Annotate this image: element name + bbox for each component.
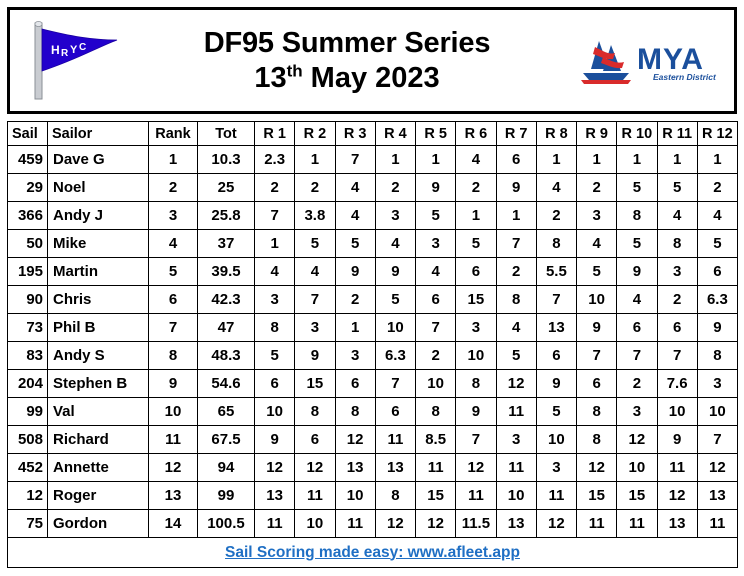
cell-race-12: 10 — [697, 398, 737, 426]
cell-sail: 83 — [8, 342, 48, 370]
cell-race-10: 15 — [617, 482, 657, 510]
cell-race-4: 13 — [375, 454, 415, 482]
cell-race-8: 2 — [536, 202, 576, 230]
cell-total: 42.3 — [198, 286, 255, 314]
cell-race-7: 9 — [496, 174, 536, 202]
cell-sailor: Dave G — [48, 146, 149, 174]
cell-race-8: 1 — [536, 146, 576, 174]
afleet-link[interactable]: Sail Scoring made easy: www.afleet.app — [225, 544, 520, 561]
cell-race-12: 8 — [697, 342, 737, 370]
cell-race-8: 12 — [536, 510, 576, 538]
cell-race-7: 2 — [496, 258, 536, 286]
cell-race-10: 1 — [617, 146, 657, 174]
cell-race-7: 8 — [496, 286, 536, 314]
cell-race-12: 12 — [697, 454, 737, 482]
cell-sailor: Andy J — [48, 202, 149, 230]
cell-race-1: 7 — [255, 202, 295, 230]
cell-race-3: 13 — [335, 454, 375, 482]
cell-race-4: 7 — [375, 370, 415, 398]
table-row: 508Richard1167.59612118.5731081297 — [8, 426, 738, 454]
cell-race-9: 3 — [577, 202, 617, 230]
cell-race-10: 6 — [617, 314, 657, 342]
table-footer: Sail Scoring made easy: www.afleet.app — [8, 538, 738, 568]
cell-race-5: 11 — [416, 454, 456, 482]
event-title: DF95 Summer Series — [130, 26, 564, 60]
cell-race-9: 9 — [577, 314, 617, 342]
cell-race-9: 6 — [577, 370, 617, 398]
results-table-container: Sail Sailor Rank Tot R 1 R 2 R 3 R 4 R 5… — [7, 121, 737, 568]
cell-race-8: 3 — [536, 454, 576, 482]
cell-race-4: 3 — [375, 202, 415, 230]
svg-text:Eastern District: Eastern District — [653, 72, 717, 82]
cell-race-6: 8 — [456, 370, 496, 398]
cell-race-1: 2 — [255, 174, 295, 202]
cell-race-1: 10 — [255, 398, 295, 426]
cell-race-6: 4 — [456, 146, 496, 174]
cell-race-11: 10 — [657, 398, 697, 426]
cell-race-8: 9 — [536, 370, 576, 398]
cell-race-10: 8 — [617, 202, 657, 230]
cell-race-2: 6 — [295, 426, 335, 454]
cell-race-10: 12 — [617, 426, 657, 454]
cell-race-7: 11 — [496, 454, 536, 482]
cell-sail: 75 — [8, 510, 48, 538]
cell-race-9: 2 — [577, 174, 617, 202]
results-table: Sail Sailor Rank Tot R 1 R 2 R 3 R 4 R 5… — [7, 121, 738, 568]
cell-race-10: 7 — [617, 342, 657, 370]
cell-race-3: 7 — [335, 146, 375, 174]
svg-text:C: C — [79, 42, 86, 53]
hryc-burgee-logo: H R Y C — [10, 10, 130, 111]
cell-race-11: 8 — [657, 230, 697, 258]
svg-text:R: R — [61, 48, 69, 59]
cell-race-6: 15 — [456, 286, 496, 314]
cell-race-2: 12 — [295, 454, 335, 482]
cell-race-5: 12 — [416, 510, 456, 538]
cell-race-11: 4 — [657, 202, 697, 230]
svg-text:H: H — [51, 43, 60, 57]
cell-race-9: 4 — [577, 230, 617, 258]
cell-race-6: 12 — [456, 454, 496, 482]
header-sail[interactable]: Sail — [8, 122, 48, 146]
cell-race-12: 4 — [697, 202, 737, 230]
cell-sail: 99 — [8, 398, 48, 426]
header-race-9[interactable]: R 9 — [577, 122, 617, 146]
cell-race-2: 10 — [295, 510, 335, 538]
cell-rank: 12 — [149, 454, 198, 482]
cell-race-1: 5 — [255, 342, 295, 370]
cell-sailor: Richard — [48, 426, 149, 454]
cell-race-11: 6 — [657, 314, 697, 342]
cell-race-11: 1 — [657, 146, 697, 174]
cell-race-7: 3 — [496, 426, 536, 454]
cell-race-10: 10 — [617, 454, 657, 482]
cell-race-2: 5 — [295, 230, 335, 258]
cell-race-4: 6 — [375, 398, 415, 426]
table-row: 90Chris642.337256158710426.3 — [8, 286, 738, 314]
cell-sail: 195 — [8, 258, 48, 286]
cell-race-1: 8 — [255, 314, 295, 342]
cell-sailor: Annette — [48, 454, 149, 482]
cell-sailor: Gordon — [48, 510, 149, 538]
cell-race-1: 4 — [255, 258, 295, 286]
cell-race-5: 9 — [416, 174, 456, 202]
footer-cell: Sail Scoring made easy: www.afleet.app — [8, 538, 738, 568]
header-tot[interactable]: Tot — [198, 122, 255, 146]
cell-race-3: 4 — [335, 174, 375, 202]
cell-race-4: 12 — [375, 510, 415, 538]
cell-race-5: 6 — [416, 286, 456, 314]
cell-sail: 50 — [8, 230, 48, 258]
cell-race-6: 9 — [456, 398, 496, 426]
cell-race-1: 13 — [255, 482, 295, 510]
cell-race-4: 5 — [375, 286, 415, 314]
table-row: 452Annette129412121313111211312101112 — [8, 454, 738, 482]
cell-total: 99 — [198, 482, 255, 510]
cell-race-12: 11 — [697, 510, 737, 538]
cell-rank: 1 — [149, 146, 198, 174]
cell-sail: 73 — [8, 314, 48, 342]
cell-total: 47 — [198, 314, 255, 342]
cell-race-7: 6 — [496, 146, 536, 174]
table-row: 459Dave G110.32.317114611111 — [8, 146, 738, 174]
table-row: 50Mike437155435784585 — [8, 230, 738, 258]
table-header: Sail Sailor Rank Tot R 1 R 2 R 3 R 4 R 5… — [8, 122, 738, 146]
cell-race-4: 8 — [375, 482, 415, 510]
cell-total: 25.8 — [198, 202, 255, 230]
cell-race-11: 7 — [657, 342, 697, 370]
cell-race-3: 6 — [335, 370, 375, 398]
cell-sailor: Stephen B — [48, 370, 149, 398]
event-date: 13th May 2023 — [130, 61, 564, 95]
cell-race-5: 5 — [416, 202, 456, 230]
cell-race-4: 2 — [375, 174, 415, 202]
cell-race-12: 9 — [697, 314, 737, 342]
cell-race-1: 3 — [255, 286, 295, 314]
cell-race-5: 1 — [416, 146, 456, 174]
cell-race-3: 1 — [335, 314, 375, 342]
header-race-10[interactable]: R 10 — [617, 122, 657, 146]
header-race-7[interactable]: R 7 — [496, 122, 536, 146]
cell-sailor: Roger — [48, 482, 149, 510]
cell-race-7: 4 — [496, 314, 536, 342]
cell-race-2: 4 — [295, 258, 335, 286]
cell-race-3: 11 — [335, 510, 375, 538]
cell-race-4: 11 — [375, 426, 415, 454]
cell-race-1: 9 — [255, 426, 295, 454]
cell-race-8: 7 — [536, 286, 576, 314]
cell-race-3: 12 — [335, 426, 375, 454]
cell-race-2: 3 — [295, 314, 335, 342]
scoreboard-page: H R Y C DF95 Summer Series 13th May 2023… — [0, 0, 744, 576]
cell-race-6: 6 — [456, 258, 496, 286]
header-race-12[interactable]: R 12 — [697, 122, 737, 146]
cell-race-9: 11 — [577, 510, 617, 538]
cell-race-6: 3 — [456, 314, 496, 342]
cell-race-10: 9 — [617, 258, 657, 286]
cell-race-1: 11 — [255, 510, 295, 538]
header-race-6[interactable]: R 6 — [456, 122, 496, 146]
cell-sail: 452 — [8, 454, 48, 482]
cell-race-7: 12 — [496, 370, 536, 398]
cell-sail: 204 — [8, 370, 48, 398]
cell-race-12: 6.3 — [697, 286, 737, 314]
mya-eastern-district-logo: MYA Eastern District — [564, 10, 734, 111]
cell-race-2: 2 — [295, 174, 335, 202]
table-body: 459Dave G110.32.31711461111129Noel225224… — [8, 146, 738, 538]
cell-rank: 2 — [149, 174, 198, 202]
cell-sailor: Chris — [48, 286, 149, 314]
cell-race-8: 8 — [536, 230, 576, 258]
cell-race-12: 2 — [697, 174, 737, 202]
header-race-8[interactable]: R 8 — [536, 122, 576, 146]
cell-sail: 12 — [8, 482, 48, 510]
cell-race-11: 2 — [657, 286, 697, 314]
cell-race-11: 3 — [657, 258, 697, 286]
cell-race-7: 10 — [496, 482, 536, 510]
cell-race-10: 11 — [617, 510, 657, 538]
cell-race-7: 5 — [496, 342, 536, 370]
cell-race-5: 3 — [416, 230, 456, 258]
cell-total: 10.3 — [198, 146, 255, 174]
header-race-5[interactable]: R 5 — [416, 122, 456, 146]
cell-race-4: 4 — [375, 230, 415, 258]
cell-sailor: Mike — [48, 230, 149, 258]
cell-race-3: 9 — [335, 258, 375, 286]
cell-total: 67.5 — [198, 426, 255, 454]
banner-title-block: DF95 Summer Series 13th May 2023 — [130, 26, 564, 94]
table-row: 195Martin539.544994625.55936 — [8, 258, 738, 286]
event-date-day: 13 — [254, 62, 286, 94]
cell-race-7: 11 — [496, 398, 536, 426]
cell-rank: 11 — [149, 426, 198, 454]
cell-race-11: 9 — [657, 426, 697, 454]
cell-rank: 13 — [149, 482, 198, 510]
cell-total: 100.5 — [198, 510, 255, 538]
header-sailor[interactable]: Sailor — [48, 122, 149, 146]
table-row: 99Val10651088689115831010 — [8, 398, 738, 426]
cell-race-3: 10 — [335, 482, 375, 510]
cell-sailor: Andy S — [48, 342, 149, 370]
cell-race-6: 2 — [456, 174, 496, 202]
cell-race-8: 5 — [536, 398, 576, 426]
cell-race-2: 15 — [295, 370, 335, 398]
cell-race-12: 1 — [697, 146, 737, 174]
cell-total: 94 — [198, 454, 255, 482]
cell-sail: 29 — [8, 174, 48, 202]
cell-rank: 7 — [149, 314, 198, 342]
cell-race-3: 4 — [335, 202, 375, 230]
header-race-1[interactable]: R 1 — [255, 122, 295, 146]
cell-sail: 508 — [8, 426, 48, 454]
cell-race-9: 8 — [577, 426, 617, 454]
cell-race-8: 10 — [536, 426, 576, 454]
cell-race-9: 12 — [577, 454, 617, 482]
header-race-2[interactable]: R 2 — [295, 122, 335, 146]
cell-race-2: 7 — [295, 286, 335, 314]
table-row: 73Phil B74783110734139669 — [8, 314, 738, 342]
cell-race-1: 12 — [255, 454, 295, 482]
cell-race-9: 10 — [577, 286, 617, 314]
cell-race-8: 11 — [536, 482, 576, 510]
cell-race-5: 10 — [416, 370, 456, 398]
event-date-rest: May 2023 — [303, 62, 440, 94]
cell-race-12: 3 — [697, 370, 737, 398]
cell-race-3: 3 — [335, 342, 375, 370]
cell-race-2: 9 — [295, 342, 335, 370]
cell-race-6: 11 — [456, 482, 496, 510]
header-race-3[interactable]: R 3 — [335, 122, 375, 146]
cell-rank: 4 — [149, 230, 198, 258]
cell-total: 65 — [198, 398, 255, 426]
title-banner: H R Y C DF95 Summer Series 13th May 2023… — [7, 7, 737, 114]
cell-race-11: 11 — [657, 454, 697, 482]
header-race-4[interactable]: R 4 — [375, 122, 415, 146]
cell-race-1: 1 — [255, 230, 295, 258]
cell-race-2: 3.8 — [295, 202, 335, 230]
cell-race-4: 1 — [375, 146, 415, 174]
cell-rank: 14 — [149, 510, 198, 538]
cell-sail: 366 — [8, 202, 48, 230]
cell-race-7: 13 — [496, 510, 536, 538]
cell-race-4: 10 — [375, 314, 415, 342]
cell-race-2: 8 — [295, 398, 335, 426]
cell-race-6: 1 — [456, 202, 496, 230]
cell-sail: 459 — [8, 146, 48, 174]
cell-race-12: 7 — [697, 426, 737, 454]
cell-race-4: 9 — [375, 258, 415, 286]
cell-race-9: 1 — [577, 146, 617, 174]
cell-race-11: 13 — [657, 510, 697, 538]
cell-race-11: 12 — [657, 482, 697, 510]
cell-race-7: 7 — [496, 230, 536, 258]
table-row: 83Andy S848.35936.3210567778 — [8, 342, 738, 370]
cell-race-10: 5 — [617, 230, 657, 258]
cell-sailor: Noel — [48, 174, 149, 202]
cell-race-12: 13 — [697, 482, 737, 510]
cell-race-5: 8.5 — [416, 426, 456, 454]
table-row: 12Roger139913111081511101115151213 — [8, 482, 738, 510]
cell-race-10: 4 — [617, 286, 657, 314]
footer-row: Sail Scoring made easy: www.afleet.app — [8, 538, 738, 568]
cell-rank: 5 — [149, 258, 198, 286]
cell-sail: 90 — [8, 286, 48, 314]
cell-race-11: 5 — [657, 174, 697, 202]
cell-sailor: Val — [48, 398, 149, 426]
table-row: 366Andy J325.873.84351123844 — [8, 202, 738, 230]
cell-race-4: 6.3 — [375, 342, 415, 370]
cell-race-6: 11.5 — [456, 510, 496, 538]
table-row: 75Gordon14100.5111011121211.513121111131… — [8, 510, 738, 538]
cell-rank: 9 — [149, 370, 198, 398]
header-row: Sail Sailor Rank Tot R 1 R 2 R 3 R 4 R 5… — [8, 122, 738, 146]
cell-race-10: 2 — [617, 370, 657, 398]
cell-total: 25 — [198, 174, 255, 202]
cell-race-5: 4 — [416, 258, 456, 286]
cell-rank: 6 — [149, 286, 198, 314]
cell-sailor: Phil B — [48, 314, 149, 342]
cell-race-8: 5.5 — [536, 258, 576, 286]
cell-race-9: 15 — [577, 482, 617, 510]
cell-race-5: 7 — [416, 314, 456, 342]
cell-race-8: 6 — [536, 342, 576, 370]
cell-race-2: 1 — [295, 146, 335, 174]
cell-race-8: 4 — [536, 174, 576, 202]
cell-race-10: 5 — [617, 174, 657, 202]
cell-total: 54.6 — [198, 370, 255, 398]
cell-race-9: 8 — [577, 398, 617, 426]
cell-race-10: 3 — [617, 398, 657, 426]
cell-race-3: 5 — [335, 230, 375, 258]
cell-race-3: 8 — [335, 398, 375, 426]
cell-race-6: 10 — [456, 342, 496, 370]
cell-race-5: 15 — [416, 482, 456, 510]
cell-race-8: 13 — [536, 314, 576, 342]
cell-race-9: 7 — [577, 342, 617, 370]
table-row: 204Stephen B954.661567108129627.63 — [8, 370, 738, 398]
cell-race-11: 7.6 — [657, 370, 697, 398]
cell-rank: 10 — [149, 398, 198, 426]
cell-race-5: 8 — [416, 398, 456, 426]
cell-race-6: 7 — [456, 426, 496, 454]
cell-rank: 8 — [149, 342, 198, 370]
svg-text:Y: Y — [70, 44, 78, 56]
cell-race-9: 5 — [577, 258, 617, 286]
cell-race-5: 2 — [416, 342, 456, 370]
event-date-ordinal: th — [287, 61, 303, 80]
cell-rank: 3 — [149, 202, 198, 230]
cell-race-12: 6 — [697, 258, 737, 286]
header-race-11[interactable]: R 11 — [657, 122, 697, 146]
cell-race-3: 2 — [335, 286, 375, 314]
cell-race-7: 1 — [496, 202, 536, 230]
cell-sailor: Martin — [48, 258, 149, 286]
cell-race-6: 5 — [456, 230, 496, 258]
cell-total: 39.5 — [198, 258, 255, 286]
cell-race-12: 5 — [697, 230, 737, 258]
cell-total: 37 — [198, 230, 255, 258]
table-row: 29Noel225224292942552 — [8, 174, 738, 202]
cell-race-2: 11 — [295, 482, 335, 510]
header-rank[interactable]: Rank — [149, 122, 198, 146]
cell-total: 48.3 — [198, 342, 255, 370]
cell-race-1: 2.3 — [255, 146, 295, 174]
cell-race-1: 6 — [255, 370, 295, 398]
